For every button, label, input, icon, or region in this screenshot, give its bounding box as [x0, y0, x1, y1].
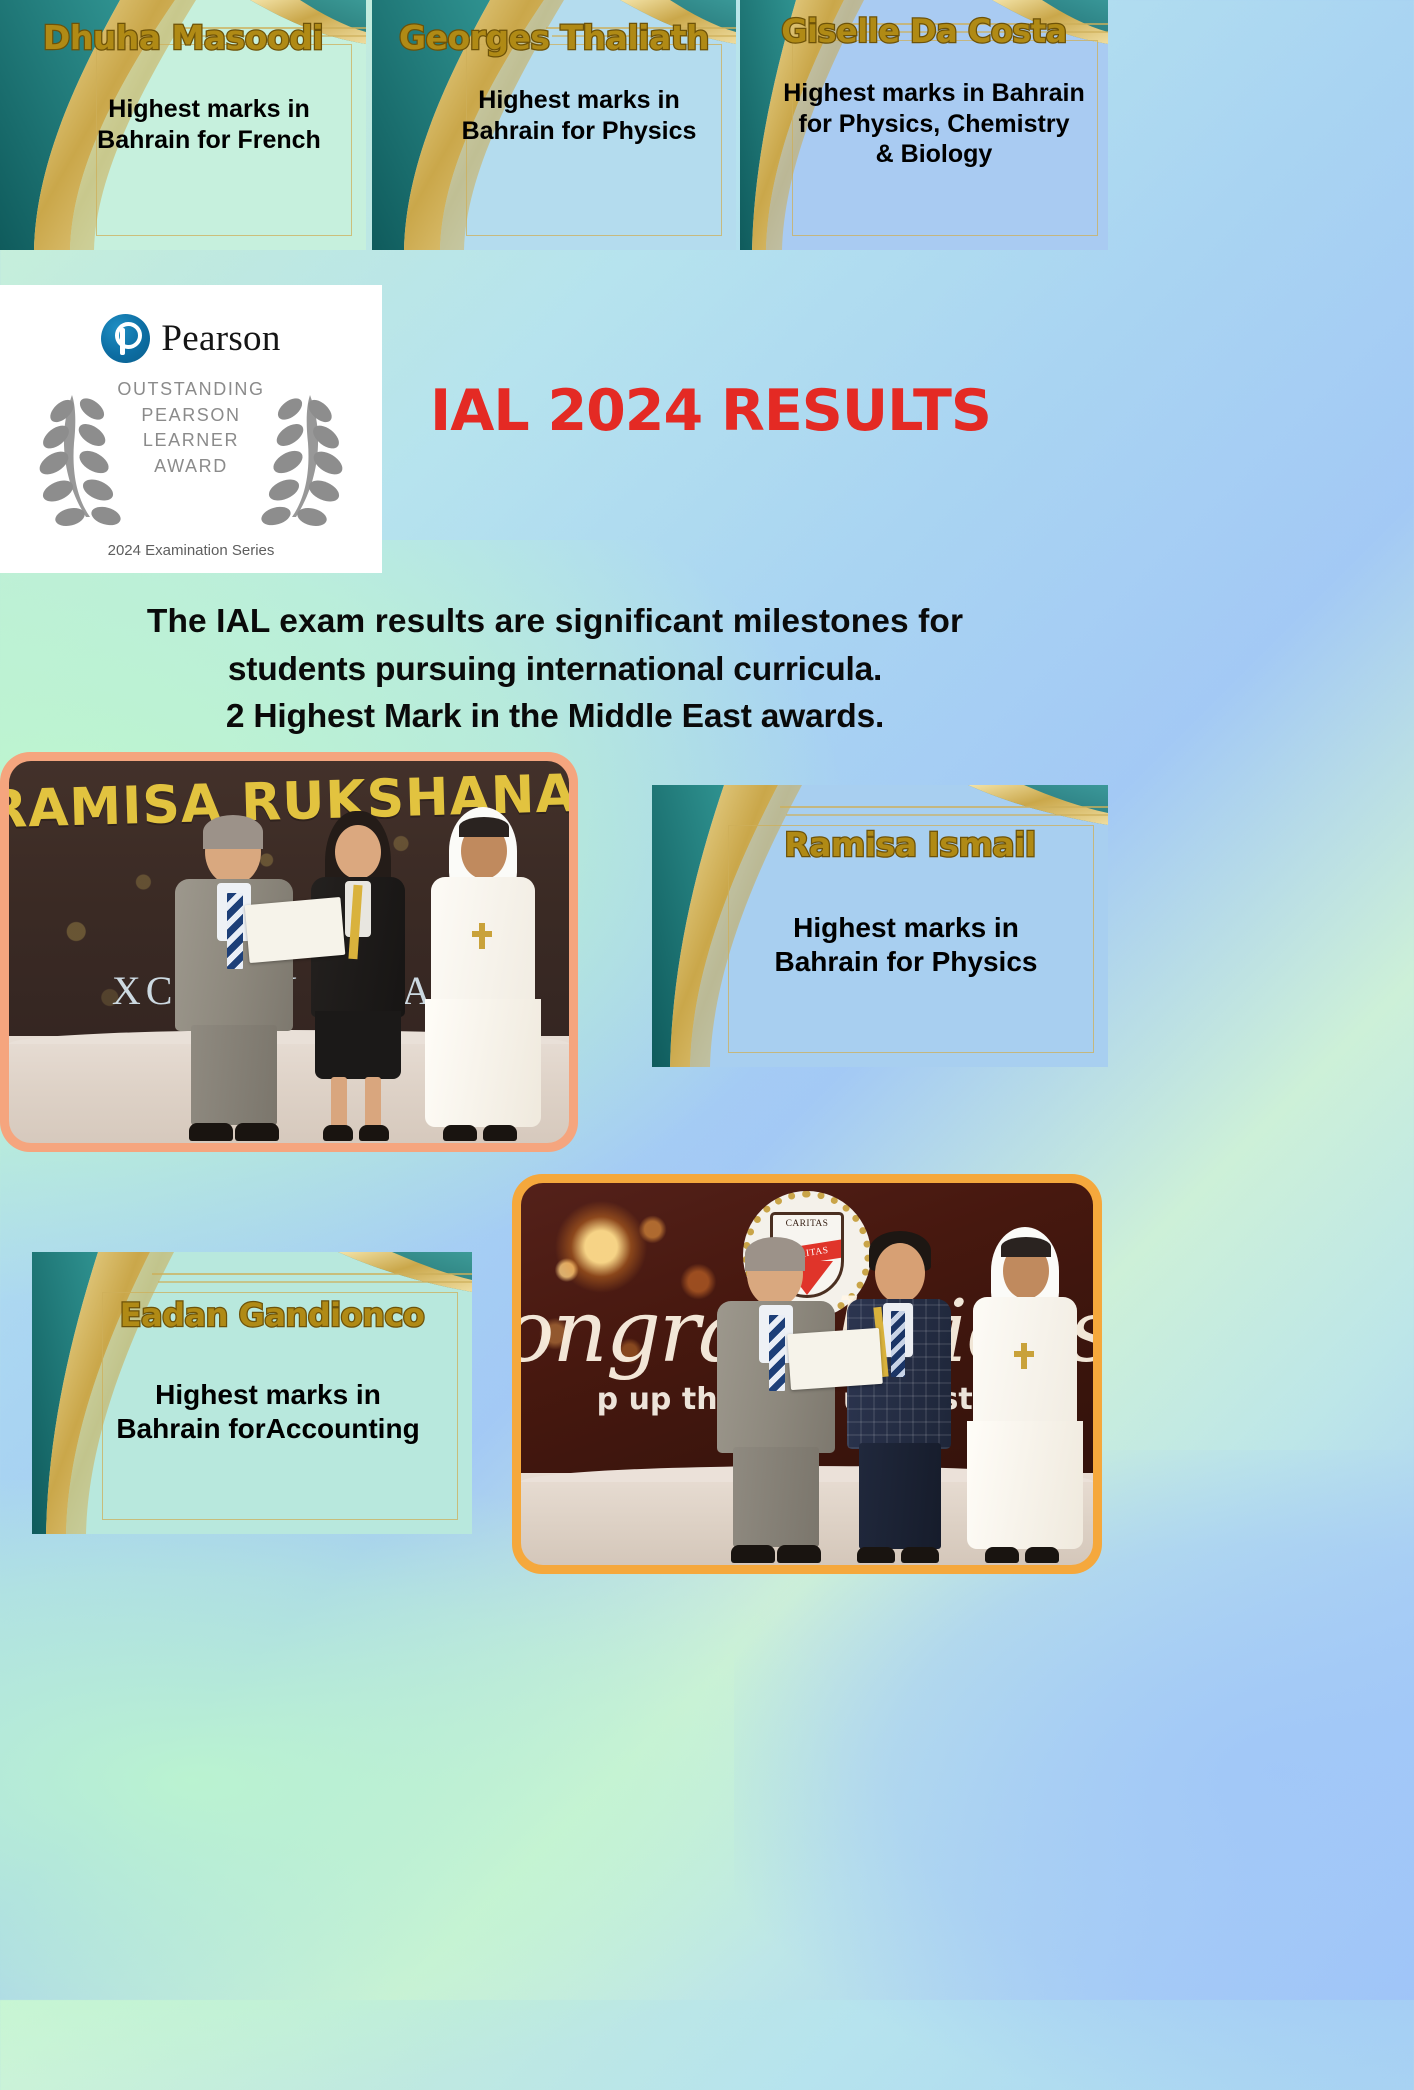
certificate-card-dhuha-masoodi: Dhuha Masoodi Highest marks in Bahrain f… — [0, 0, 366, 250]
crest-top-text: CARITAS — [786, 1219, 829, 1229]
desc-line-2: Bahrain for Physics — [775, 946, 1038, 977]
habit-skirt — [425, 999, 541, 1127]
person-sister — [951, 1227, 1091, 1565]
legs — [331, 1077, 347, 1129]
certificate-card-eadan-gandionco: Eadan Gandionco Highest marks in Bahrain… — [32, 1252, 472, 1534]
certificate-description: Highest marks in Bahrain forAccounting — [32, 1378, 472, 1446]
shoe-right — [235, 1123, 279, 1141]
intro-paragraph: The IAL exam results are significant mil… — [30, 598, 1080, 741]
trousers — [859, 1443, 941, 1549]
photo-image: CARITAS VERITAS ongratulations p up the … — [521, 1183, 1093, 1565]
certificate-paper — [787, 1328, 883, 1390]
person-principal — [711, 1235, 846, 1565]
shoe-right — [777, 1545, 821, 1563]
award-line-1: OUTSTANDING — [0, 377, 382, 403]
person-student-ramisa — [299, 811, 417, 1143]
certificate-name: Eadan Gandionco — [32, 1296, 472, 1334]
certificate-paper — [245, 897, 346, 963]
person-student-eadan — [839, 1231, 961, 1565]
certificate-name: Ramisa Ismail — [652, 825, 1108, 864]
pearson-logo-icon — [101, 314, 150, 363]
eadan-award-photo: CARITAS VERITAS ongratulations p up the … — [512, 1174, 1102, 1574]
necktie — [227, 893, 243, 969]
legs-2 — [365, 1077, 381, 1129]
award-title: OUTSTANDING PEARSON LEARNER AWARD — [0, 377, 382, 479]
hair-band — [1001, 1237, 1051, 1257]
head — [875, 1243, 925, 1303]
trousers — [191, 1025, 277, 1125]
certificate-card-georges-thaliath: Georges Thaliath Highest marks in Bahrai… — [372, 0, 736, 250]
desc-line-1: Highest marks in — [793, 912, 1019, 943]
shoe-left — [189, 1123, 233, 1141]
photo-image: RAMISA RUKSHANA I XCEL IN E MAY — [9, 761, 569, 1143]
pearson-wordmark: Pearson — [161, 317, 280, 360]
pearson-award-logo: Pearson — [0, 285, 382, 573]
desc-line-1: Highest marks in — [155, 1379, 381, 1410]
desc-line-3: & Biology — [876, 140, 993, 168]
cross-pendant-bar — [472, 931, 492, 937]
certificate-name: Georges Thaliath — [372, 18, 736, 57]
trousers — [733, 1447, 819, 1547]
shoe-left — [731, 1545, 775, 1563]
desc-line-2: for Physics, Chemistry — [799, 110, 1070, 138]
shoe-left — [857, 1547, 895, 1563]
stage-scene: RAMISA RUKSHANA I XCEL IN E MAY — [9, 761, 569, 1143]
intro-line-1: The IAL exam results are significant mil… — [30, 598, 1080, 646]
desc-line-1: Highest marks in — [478, 86, 679, 114]
shoe-left — [323, 1125, 353, 1141]
desc-line-1: Highest marks in — [108, 95, 309, 123]
page-title: IAL 2024 RESULTS — [430, 383, 1070, 440]
shoe-right — [483, 1125, 517, 1141]
certificate-name: Dhuha Masoodi — [0, 18, 366, 57]
necktie — [769, 1315, 785, 1391]
person-sister — [409, 807, 549, 1143]
desc-line-2: Bahrain for French — [97, 126, 321, 154]
shoe-left — [443, 1125, 477, 1141]
shoe-right — [1025, 1547, 1059, 1563]
certificate-description: Highest marks in Bahrain for Physics — [652, 911, 1108, 979]
face — [335, 825, 381, 879]
award-line-2: PEARSON — [0, 403, 382, 429]
stage-scene: CARITAS VERITAS ongratulations p up the … — [521, 1183, 1093, 1565]
certificate-description: Highest marks in Bahrain for Physics, Ch… — [740, 78, 1108, 170]
examination-series-label: 2024 Examination Series — [0, 542, 382, 559]
pearson-brand-row: Pearson — [0, 309, 382, 367]
intro-line-3: 2 Highest Mark in the Middle East awards… — [30, 693, 1080, 741]
shoe-right — [901, 1547, 939, 1563]
certificate-description: Highest marks in Bahrain for Physics — [372, 85, 736, 146]
skirt — [315, 1011, 401, 1079]
certificate-card-ramisa-ismail: Ramisa Ismail Highest marks in Bahrain f… — [652, 785, 1108, 1067]
certificate-name: Giselle Da Costa — [740, 12, 1108, 50]
award-line-4: AWARD — [0, 454, 382, 480]
hair-band — [459, 817, 509, 837]
hair — [745, 1237, 805, 1271]
shoe-right — [359, 1125, 389, 1141]
habit-skirt — [967, 1421, 1083, 1549]
award-line-3: LEARNER — [0, 428, 382, 454]
shoe-left — [985, 1547, 1019, 1563]
intro-line-2: students pursuing international curricul… — [30, 646, 1080, 694]
certificate-card-giselle-da-costa: Giselle Da Costa Highest marks in Bahrai… — [740, 0, 1108, 250]
necktie — [891, 1311, 905, 1377]
cross-pendant-bar — [1014, 1351, 1034, 1357]
hair — [203, 815, 263, 849]
ramisa-award-photo: RAMISA RUKSHANA I XCEL IN E MAY — [0, 752, 578, 1152]
desc-line-2: Bahrain forAccounting — [116, 1413, 419, 1444]
person-principal — [169, 813, 304, 1143]
desc-line-1: Highest marks in Bahrain — [783, 79, 1084, 107]
certificate-description: Highest marks in Bahrain for French — [0, 94, 366, 155]
desc-line-2: Bahrain for Physics — [462, 117, 697, 145]
